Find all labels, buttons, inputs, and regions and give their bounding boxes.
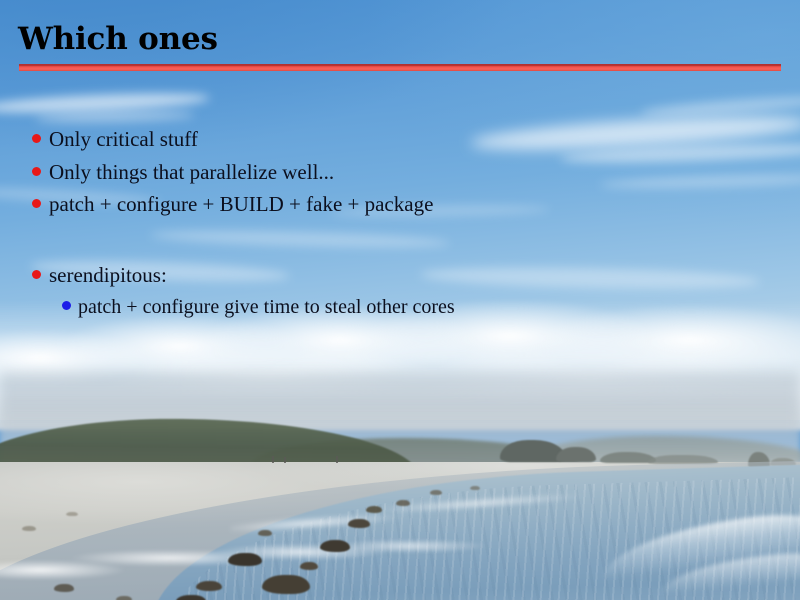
list-item: patch + configure + BUILD + fake + packa… <box>32 193 772 217</box>
bullet-dot-icon <box>62 301 71 310</box>
bullet-dot-icon <box>32 134 41 143</box>
list-item-label: patch + configure give time to steal oth… <box>78 296 455 318</box>
kelp-clump <box>430 490 442 495</box>
shoreline-foam <box>0 540 500 600</box>
list-item-label: Only critical stuff <box>49 128 198 152</box>
kelp-clump <box>320 540 350 552</box>
kelp-clump <box>470 486 480 490</box>
shore-rock <box>556 447 596 462</box>
title-divider-rule <box>19 64 781 71</box>
kelp-clump <box>366 506 382 513</box>
beach-figure <box>272 456 274 463</box>
kelp-clump <box>176 595 206 600</box>
list-item-label: serendipitous: <box>49 264 167 288</box>
kelp-clump <box>22 526 36 531</box>
list-spacer <box>32 226 772 264</box>
bullet-dot-icon <box>32 270 41 279</box>
slide: Which ones Only critical stuff Only thin… <box>0 0 800 600</box>
kelp-clump <box>66 512 78 516</box>
list-item-sub: patch + configure give time to steal oth… <box>62 296 772 318</box>
list-item: Only things that parallelize well... <box>32 161 772 185</box>
beach-figure <box>284 457 286 463</box>
list-item: Only critical stuff <box>32 128 772 152</box>
bullet-dot-icon <box>32 199 41 208</box>
list-item-label: patch + configure + BUILD + fake + packa… <box>49 193 433 217</box>
bullet-list: Only critical stuff Only things that par… <box>32 128 772 327</box>
beach-figure <box>336 456 338 463</box>
kelp-clump <box>258 530 272 536</box>
list-item-label: Only things that parallelize well... <box>49 161 334 185</box>
bullet-dot-icon <box>32 167 41 176</box>
kelp-clump <box>396 500 410 506</box>
kelp-clump <box>300 562 318 570</box>
kelp-clump <box>196 581 222 591</box>
kelp-clump <box>54 584 74 592</box>
kelp-clump <box>262 575 310 594</box>
kelp-clump <box>116 596 132 600</box>
kelp-clump <box>348 519 370 528</box>
slide-title: Which ones <box>18 24 218 55</box>
kelp-clump <box>228 553 262 566</box>
list-item: serendipitous: <box>32 264 772 288</box>
